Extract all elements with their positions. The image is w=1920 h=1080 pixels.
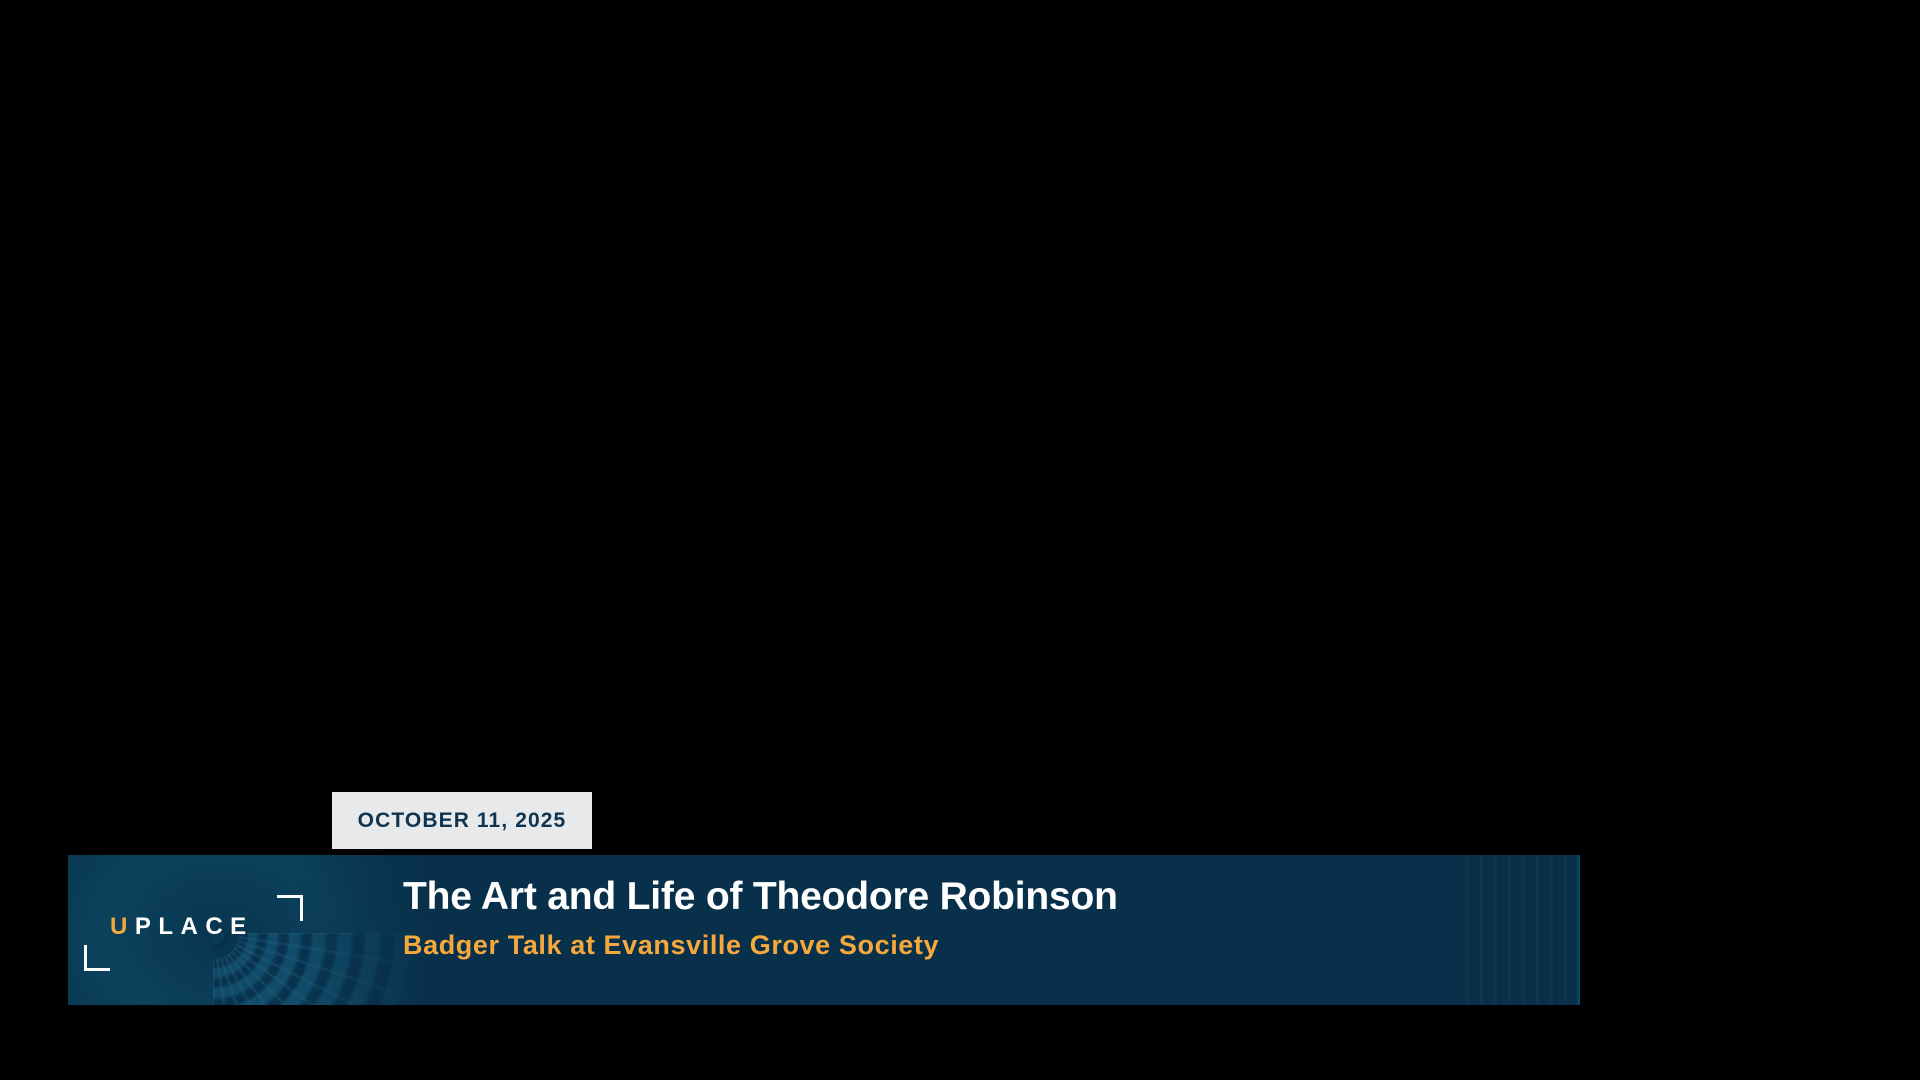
- event-date-badge: OCTOBER 11, 2025: [332, 792, 592, 849]
- event-date-label: OCTOBER 11, 2025: [358, 809, 567, 833]
- uplace-logo[interactable]: UPLACE: [78, 893, 303, 973]
- event-subtitle: Badger Talk at Evansville Grove Society: [403, 929, 1540, 961]
- uplace-wordmark: UPLACE: [110, 915, 254, 939]
- event-title: The Art and Life of Theodore Robinson: [403, 875, 1540, 919]
- bracket-bottom-left-icon: [84, 945, 110, 971]
- banner-edge-glow: [1576, 855, 1580, 1005]
- bracket-top-right-icon: [277, 895, 303, 921]
- uplace-accent-letter: U: [110, 913, 135, 940]
- banner-text-block: The Art and Life of Theodore Robinson Ba…: [403, 875, 1540, 961]
- page-canvas: OCTOBER 11, 2025: [0, 0, 1920, 1080]
- uplace-remaining-letters: PLACE: [135, 913, 254, 940]
